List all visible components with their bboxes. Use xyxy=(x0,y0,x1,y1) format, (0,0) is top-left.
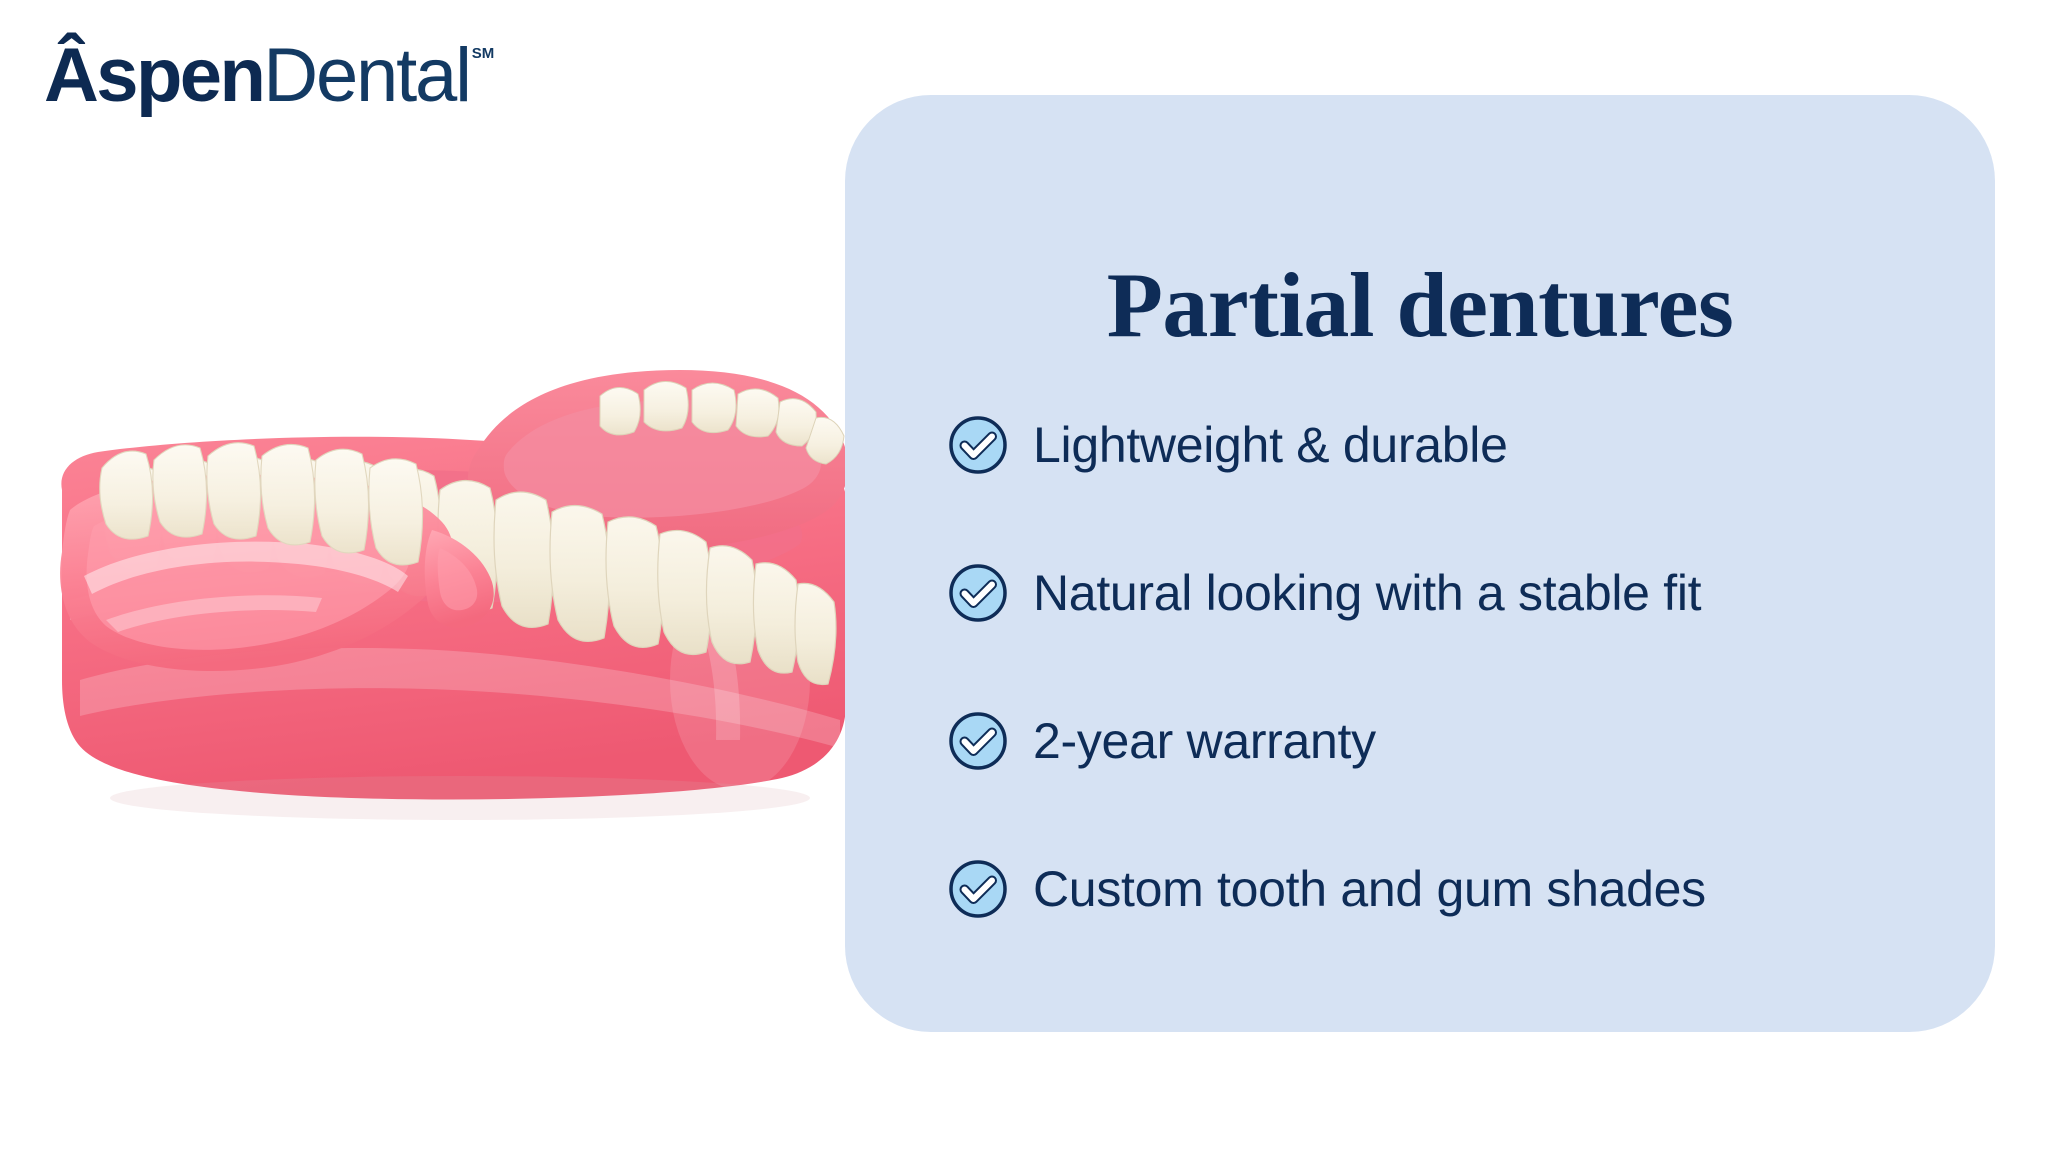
logo-wordmark-primary: Âspen xyxy=(44,38,263,114)
check-circle-icon xyxy=(947,858,1009,920)
info-card: Partial dentures Lightweight & durable xyxy=(845,95,1995,1032)
logo-wordmark-secondary: Dental xyxy=(263,38,470,114)
list-item: 2-year warranty xyxy=(947,701,1955,781)
page-title: Partial dentures xyxy=(845,259,1995,351)
check-circle-icon xyxy=(947,414,1009,476)
check-circle-icon xyxy=(947,710,1009,772)
logo-servicemark-icon: SM xyxy=(472,46,495,61)
aspen-dental-logo[interactable]: Âspen Dental SM xyxy=(44,38,494,114)
check-circle-icon xyxy=(947,562,1009,624)
list-item-label: Lightweight & durable xyxy=(1033,419,1508,472)
list-item: Natural looking with a stable fit xyxy=(947,553,1955,633)
promo-slide: Âspen Dental SM xyxy=(0,0,2048,1152)
list-item: Custom tooth and gum shades xyxy=(947,849,1955,929)
list-item-label: Natural looking with a stable fit xyxy=(1033,567,1701,620)
feature-list: Lightweight & durable Natural looking wi… xyxy=(947,405,1955,929)
partial-denture-photo xyxy=(40,300,870,860)
list-item: Lightweight & durable xyxy=(947,405,1955,485)
list-item-label: 2-year warranty xyxy=(1033,715,1376,768)
list-item-label: Custom tooth and gum shades xyxy=(1033,863,1706,916)
